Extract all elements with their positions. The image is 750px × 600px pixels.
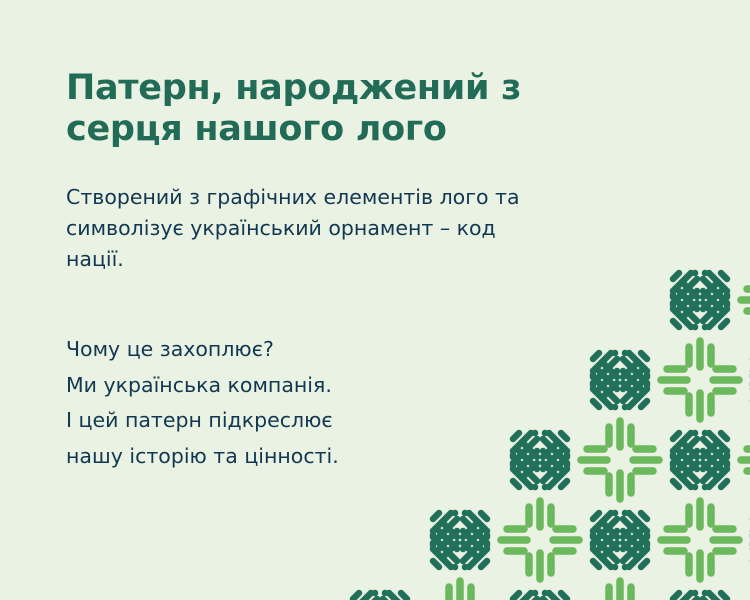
paragraph-secondary-line-3: І цей патерн підкреслює	[66, 403, 526, 439]
ornament-light-tile	[661, 341, 739, 419]
headline-line-2: серця нашого лого	[66, 109, 606, 150]
headline-line-1: Патерн, народжений з	[66, 68, 606, 109]
paragraph-secondary: Чому це захоплює? Ми українська компанія…	[66, 332, 526, 475]
paragraph-secondary-line-1: Чому це захоплює?	[66, 332, 526, 368]
paragraph-primary: Створений з графічних елементів лого та …	[66, 182, 626, 275]
ornament-dark-tile	[670, 430, 731, 491]
paragraph-primary-line-2: символізує український орнамент – код	[66, 213, 626, 244]
ornament-light-tile	[741, 581, 750, 600]
paragraph-secondary-line-2: Ми українська компанія.	[66, 368, 526, 404]
page-title: Патерн, народжений з серця нашого лого	[66, 68, 606, 150]
paragraph-primary-line-1: Створений з графічних елементів лого та	[66, 182, 626, 213]
slide-canvas: Патерн, народжений з серця нашого лого С…	[0, 0, 750, 600]
text-content: Патерн, народжений з серця нашого лого С…	[66, 0, 666, 600]
ornament-dark-tile	[670, 270, 731, 331]
ornament-light-tile	[661, 501, 739, 579]
ornament-dark-tile	[670, 590, 731, 600]
ornament-light-tile	[741, 421, 750, 499]
ornament-light-tile	[741, 261, 750, 339]
paragraph-primary-line-3: нації.	[66, 244, 626, 275]
paragraph-secondary-line-4: нашу історію та цінності.	[66, 439, 526, 475]
